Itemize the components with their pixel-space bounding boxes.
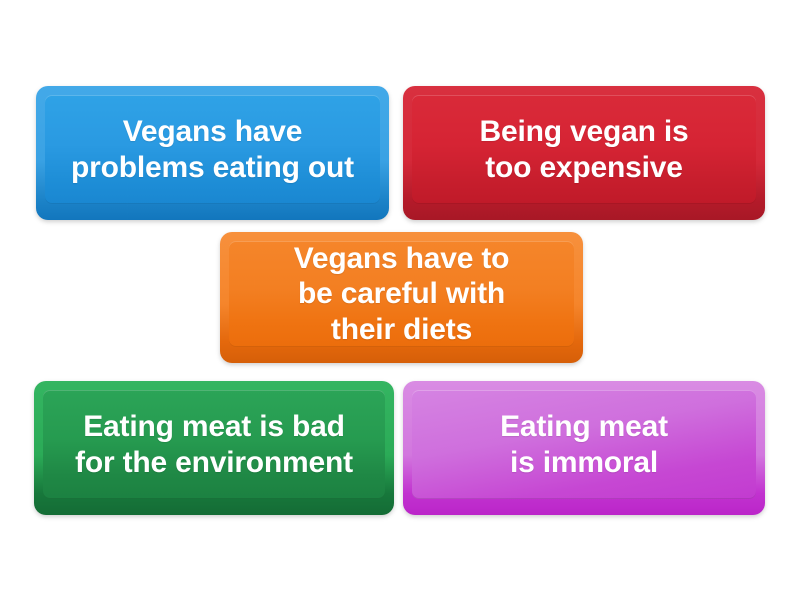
tile-vegans-eating-out[interactable]: Vegans have problems eating out (36, 86, 389, 220)
tile-face: Eating meat is immoral (412, 390, 756, 499)
tile-meat-immoral[interactable]: Eating meat is immoral (403, 381, 765, 515)
tile-face: Eating meat is bad for the environment (43, 390, 385, 499)
tile-face: Vegans have problems eating out (45, 95, 380, 204)
tile-label: Vegans have to be careful with their die… (288, 241, 516, 347)
tile-face: Being vegan is too expensive (412, 95, 756, 204)
tile-vegan-expensive[interactable]: Being vegan is too expensive (403, 86, 765, 220)
tile-label: Vegans have problems eating out (65, 114, 360, 185)
tile-label: Eating meat is bad for the environment (69, 409, 359, 480)
tile-label: Being vegan is too expensive (474, 114, 695, 185)
tile-meat-environment[interactable]: Eating meat is bad for the environment (34, 381, 394, 515)
tile-face: Vegans have to be careful with their die… (229, 241, 574, 347)
tile-label: Eating meat is immoral (494, 409, 674, 480)
tile-board: Vegans have problems eating out Being ve… (0, 0, 800, 600)
tile-careful-diets[interactable]: Vegans have to be careful with their die… (220, 232, 583, 363)
